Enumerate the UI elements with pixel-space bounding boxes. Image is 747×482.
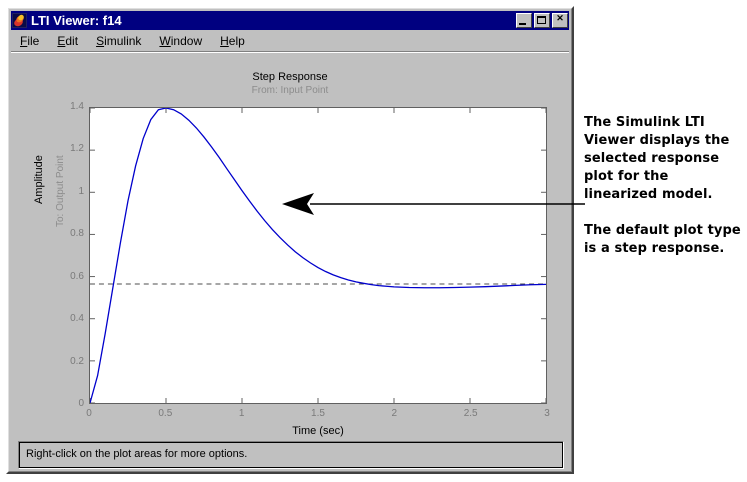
menu-item-help[interactable]: Help bbox=[211, 33, 254, 50]
menu-item-simulink[interactable]: Simulink bbox=[87, 33, 150, 50]
y-tick-label: 0.8 bbox=[58, 229, 84, 239]
close-icon: ✕ bbox=[553, 14, 567, 23]
window-controls: ✕ bbox=[516, 13, 569, 28]
minimize-button[interactable] bbox=[516, 13, 532, 28]
x-tick-label: 0.5 bbox=[145, 409, 185, 419]
figure-area[interactable]: Step Response From: Input Point Amplitud… bbox=[11, 54, 569, 435]
status-bar: Right-click on the plot areas for more o… bbox=[18, 441, 564, 469]
plot-axes[interactable] bbox=[89, 107, 547, 404]
x-tick-label: 1.5 bbox=[298, 409, 338, 419]
axis-ticks bbox=[90, 108, 546, 403]
y-tick-label: 0.2 bbox=[58, 357, 84, 367]
plot-subtitle: From: Input Point bbox=[11, 85, 569, 96]
y-tick-label: 1.4 bbox=[58, 102, 84, 112]
annotation-block: The Simulink LTI Viewer displays the sel… bbox=[584, 114, 744, 258]
step-response-plot bbox=[90, 108, 546, 403]
maximize-button[interactable] bbox=[534, 13, 550, 28]
step-response-curve bbox=[90, 108, 546, 403]
y-tick-label: 0 bbox=[58, 399, 84, 409]
plot-title: Step Response bbox=[11, 71, 569, 83]
window-title: LTI Viewer: f14 bbox=[31, 11, 122, 30]
menu-separator bbox=[11, 51, 569, 53]
x-tick-label: 2 bbox=[374, 409, 414, 419]
title-bar[interactable]: LTI Viewer: f14 ✕ bbox=[11, 11, 569, 30]
y-tick-label: 0.4 bbox=[58, 314, 84, 324]
menu-item-file[interactable]: File bbox=[11, 33, 48, 50]
matlab-membrane-icon bbox=[12, 13, 27, 28]
status-bar-frame: Right-click on the plot areas for more o… bbox=[19, 442, 563, 468]
x-tick-label: 2.5 bbox=[451, 409, 491, 419]
menu-item-window[interactable]: Window bbox=[150, 33, 211, 50]
x-tick-label: 3 bbox=[527, 409, 567, 419]
close-button[interactable]: ✕ bbox=[552, 13, 568, 28]
x-axis-label: Time (sec) bbox=[89, 425, 547, 437]
annotation-paragraph-2: The default plot type is a step response… bbox=[584, 222, 744, 258]
callout-arrow bbox=[280, 186, 585, 222]
menu-item-edit[interactable]: Edit bbox=[48, 33, 87, 50]
annotation-paragraph-1: The Simulink LTI Viewer displays the sel… bbox=[584, 114, 744, 204]
menu-bar: File Edit Simulink Window Help bbox=[11, 32, 569, 50]
y-tick-label: 1.2 bbox=[58, 144, 84, 154]
lti-viewer-window: LTI Viewer: f14 ✕ File Edit Simulink Win… bbox=[6, 6, 574, 474]
x-tick-label: 1 bbox=[222, 409, 262, 419]
status-bar-text: Right-click on the plot areas for more o… bbox=[26, 448, 247, 460]
y-tick-label: 1 bbox=[58, 187, 84, 197]
x-tick-label: 0 bbox=[69, 409, 109, 419]
y-axis-label: Amplitude bbox=[33, 155, 45, 204]
y-tick-label: 0.6 bbox=[58, 272, 84, 282]
